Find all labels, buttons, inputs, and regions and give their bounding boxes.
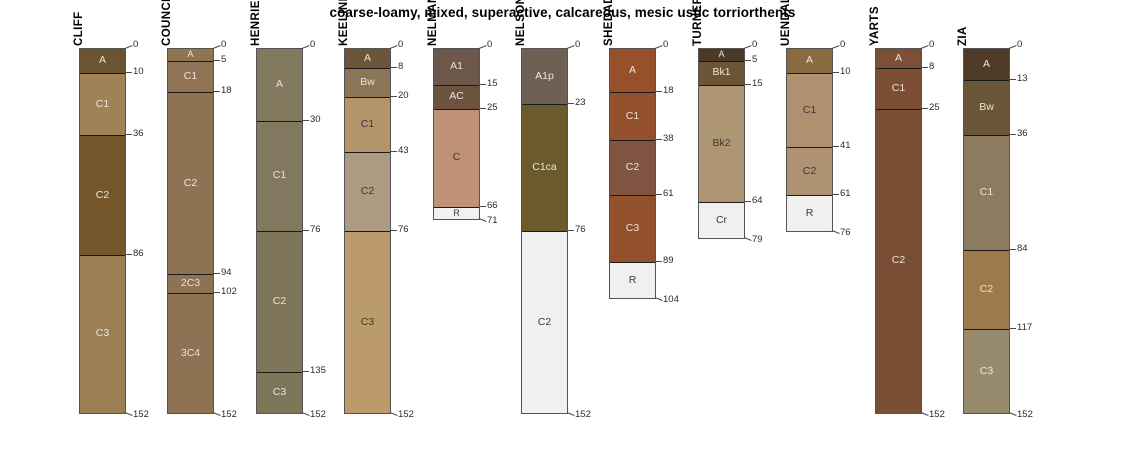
depth-tick: [832, 146, 839, 147]
horizon-boundary: [522, 231, 567, 232]
depth-tick: [125, 45, 133, 49]
profile-column: ABwC1C2C3: [963, 48, 1010, 414]
depth-tick: [213, 60, 220, 61]
horizon-label: C2: [168, 178, 213, 189]
horizon-label: A: [257, 79, 302, 90]
depth-tick: [302, 45, 310, 49]
horizon-boundary: [168, 92, 213, 93]
horizon-label: A: [876, 53, 921, 64]
depth-tick: [1009, 328, 1016, 329]
soil-profile-plot: coarse-loamy, mixed, superactive, calcar…: [0, 0, 1125, 450]
soil-horizon: C3: [257, 372, 302, 413]
soil-horizon: A: [168, 49, 213, 61]
depth-tick: [655, 139, 662, 140]
horizon-boundary: [345, 68, 390, 69]
depth-label: 152: [221, 410, 237, 420]
soil-horizon: C2: [168, 92, 213, 274]
depth-tick: [567, 103, 574, 104]
depth-tick: [390, 151, 397, 152]
horizon-label: C1: [257, 170, 302, 181]
soil-horizon: A1: [434, 49, 479, 85]
horizon-boundary: [610, 92, 655, 93]
horizon-label: C1: [964, 187, 1009, 198]
horizon-label: C3: [964, 366, 1009, 377]
soil-horizon: C3: [964, 329, 1009, 413]
soil-horizon: C2: [522, 231, 567, 413]
depth-label: 25: [929, 103, 940, 113]
depth-label: 36: [133, 129, 144, 139]
depth-label: 0: [310, 40, 315, 50]
horizon-label: R: [610, 275, 655, 286]
soil-horizon: C1: [610, 92, 655, 140]
depth-tick: [1009, 134, 1016, 135]
depth-label: 8: [929, 62, 934, 72]
horizon-label: A: [80, 55, 125, 66]
depth-label: 117: [1017, 323, 1032, 333]
profile-name-label: NELMAN: [427, 0, 439, 46]
horizon-boundary: [876, 109, 921, 110]
soil-horizon: C3: [345, 231, 390, 413]
soil-horizon: R: [434, 207, 479, 219]
soil-horizon: A: [345, 49, 390, 68]
horizon-label: C1: [168, 71, 213, 82]
horizon-label: C2: [345, 186, 390, 197]
horizon-label: C2: [876, 255, 921, 266]
depth-label: 0: [133, 40, 138, 50]
soil-horizon: 3C4: [168, 293, 213, 413]
depth-label: 5: [752, 55, 757, 65]
depth-label: 0: [752, 40, 757, 50]
horizon-boundary: [876, 68, 921, 69]
depth-tick: [655, 194, 662, 195]
horizon-label: C1: [876, 83, 921, 94]
profile-column: AC1C2C3R: [609, 48, 656, 299]
horizon-label: A1: [434, 61, 479, 72]
profile-name-label: COUNCELOR: [161, 0, 173, 46]
horizon-label: A: [610, 65, 655, 76]
horizon-boundary: [168, 61, 213, 62]
horizon-boundary: [787, 147, 832, 148]
horizon-boundary: [257, 231, 302, 232]
depth-label: 89: [663, 256, 674, 266]
depth-tick: [744, 201, 751, 202]
depth-label: 152: [1017, 410, 1033, 420]
depth-tick: [921, 108, 928, 109]
depth-tick: [302, 120, 309, 121]
soil-horizon: C: [434, 109, 479, 207]
horizon-boundary: [610, 262, 655, 263]
soil-horizon: A1p: [522, 49, 567, 104]
depth-label: 94: [221, 268, 232, 278]
depth-label: 84: [1017, 244, 1028, 254]
depth-tick: [832, 72, 839, 73]
depth-label: 152: [929, 410, 945, 420]
depth-label: 30: [310, 115, 321, 125]
depth-label: 36: [1017, 129, 1028, 139]
horizon-boundary: [168, 293, 213, 294]
depth-label: 43: [398, 146, 409, 156]
horizon-label: C1: [787, 105, 832, 116]
soil-horizon: C1: [80, 73, 125, 135]
horizon-label: C3: [345, 317, 390, 328]
horizon-label: C3: [610, 223, 655, 234]
depth-label: 0: [929, 40, 934, 50]
depth-label: 104: [663, 295, 679, 305]
depth-label: 18: [221, 86, 232, 96]
horizon-label: C2: [257, 296, 302, 307]
soil-horizon: Bw: [964, 80, 1009, 135]
horizon-label: A: [787, 55, 832, 66]
soil-horizon: Bk2: [699, 85, 744, 202]
soil-horizon: C1: [876, 68, 921, 109]
soil-horizon: C2: [80, 135, 125, 255]
depth-tick: [390, 67, 397, 68]
depth-label: 0: [840, 40, 845, 50]
depth-tick: [567, 230, 574, 231]
depth-label: 152: [575, 410, 591, 420]
horizon-label: Bk1: [699, 67, 744, 78]
profile-column: AC1C22C33C4: [167, 48, 214, 414]
horizon-label: C1: [345, 119, 390, 130]
depth-tick: [1009, 249, 1016, 250]
horizon-label: C2: [787, 166, 832, 177]
soil-horizon: C1: [345, 97, 390, 152]
soil-horizon: C1: [964, 135, 1009, 250]
depth-label: 8: [398, 62, 403, 72]
depth-tick: [125, 72, 132, 73]
horizon-label: C2: [80, 190, 125, 201]
depth-tick: [125, 254, 132, 255]
horizon-label: A: [168, 50, 213, 59]
horizon-boundary: [345, 152, 390, 153]
depth-label: 15: [752, 79, 763, 89]
horizon-label: C1ca: [522, 162, 567, 173]
horizon-boundary: [345, 97, 390, 98]
soil-horizon: C1: [168, 61, 213, 92]
soil-horizon: 2C3: [168, 274, 213, 293]
depth-label: 66: [487, 201, 498, 211]
depth-tick: [479, 84, 486, 85]
horizon-boundary: [434, 85, 479, 86]
horizon-label: R: [434, 209, 479, 218]
horizon-label: C3: [257, 387, 302, 398]
horizon-boundary: [434, 109, 479, 110]
soil-horizon: A: [964, 49, 1009, 80]
depth-label: 0: [663, 40, 668, 50]
soil-horizon: C3: [80, 255, 125, 413]
depth-tick: [213, 273, 220, 274]
profile-column: AC1C2C3: [79, 48, 126, 414]
depth-label: 61: [663, 189, 674, 199]
horizon-label: C2: [610, 162, 655, 173]
horizon-label: C1: [610, 111, 655, 122]
profile-column: AC1C2C3: [256, 48, 303, 414]
horizon-boundary: [787, 73, 832, 74]
horizon-label: 3C4: [168, 348, 213, 359]
horizon-label: A1p: [522, 71, 567, 82]
horizon-boundary: [257, 121, 302, 122]
depth-label: 0: [487, 40, 492, 50]
horizon-boundary: [80, 73, 125, 74]
depth-tick: [302, 230, 309, 231]
horizon-label: C: [434, 152, 479, 163]
depth-label: 76: [840, 228, 851, 238]
horizon-boundary: [168, 274, 213, 275]
soil-horizon: C2: [876, 109, 921, 413]
depth-label: 152: [398, 410, 414, 420]
horizon-label: C2: [522, 317, 567, 328]
depth-tick: [921, 45, 929, 49]
depth-tick: [390, 96, 397, 97]
soil-horizon: A: [610, 49, 655, 92]
horizon-boundary: [964, 329, 1009, 330]
depth-label: 0: [1017, 40, 1022, 50]
soil-horizon: C1: [787, 73, 832, 147]
profile-column: ABwC1C2C3: [344, 48, 391, 414]
horizon-boundary: [434, 207, 479, 208]
soil-horizon: Bk1: [699, 61, 744, 85]
depth-tick: [479, 45, 487, 49]
soil-horizon: C2: [345, 152, 390, 231]
depth-label: 10: [133, 67, 144, 77]
soil-horizon: C1ca: [522, 104, 567, 231]
horizon-label: 2C3: [168, 278, 213, 289]
soil-horizon: A: [80, 49, 125, 73]
soil-horizon: A: [257, 49, 302, 121]
depth-tick: [390, 45, 398, 49]
depth-tick: [744, 45, 752, 49]
profile-column: A1pC1caC2: [521, 48, 568, 414]
profile-name-label: SHEDADO: [603, 0, 615, 46]
profile-name-label: ZIA: [957, 26, 969, 46]
depth-label: 23: [575, 98, 586, 108]
horizon-label: A: [699, 50, 744, 59]
soil-horizon: Cr: [699, 202, 744, 238]
depth-label: 41: [840, 141, 851, 151]
depth-tick: [744, 84, 751, 85]
horizon-boundary: [964, 135, 1009, 136]
depth-tick: [213, 45, 221, 49]
depth-label: 5: [221, 55, 226, 65]
soil-horizon: A: [787, 49, 832, 73]
depth-label: 76: [398, 225, 409, 235]
depth-tick: [479, 108, 486, 109]
depth-tick: [655, 91, 662, 92]
profile-name-label: UENDAL: [780, 0, 792, 46]
horizon-boundary: [787, 195, 832, 196]
depth-label: 18: [663, 86, 674, 96]
depth-tick: [390, 230, 397, 231]
horizon-label: C1: [80, 99, 125, 110]
horizon-boundary: [345, 231, 390, 232]
profile-name-label: TURNERCREST: [692, 0, 704, 46]
depth-label: 152: [310, 410, 326, 420]
horizon-boundary: [964, 250, 1009, 251]
soil-horizon: R: [787, 195, 832, 231]
horizon-label: Cr: [699, 215, 744, 226]
depth-label: 0: [575, 40, 580, 50]
soil-horizon: C2: [610, 140, 655, 195]
profile-column: A1ACCR: [433, 48, 480, 220]
depth-label: 61: [840, 189, 851, 199]
depth-tick: [1009, 45, 1017, 49]
depth-tick: [302, 371, 309, 372]
profile-name-label: YARTS: [869, 6, 881, 46]
soil-horizon: C3: [610, 195, 655, 262]
horizon-boundary: [522, 104, 567, 105]
depth-label: 135: [310, 366, 326, 376]
depth-label: 152: [133, 410, 149, 420]
depth-label: 71: [487, 216, 498, 226]
horizon-boundary: [610, 140, 655, 141]
horizon-label: C3: [80, 328, 125, 339]
depth-label: 86: [133, 249, 144, 259]
depth-tick: [213, 292, 220, 293]
soil-horizon: R: [610, 262, 655, 298]
depth-tick: [921, 67, 928, 68]
depth-label: 76: [575, 225, 586, 235]
horizon-label: A: [964, 59, 1009, 70]
depth-label: 15: [487, 79, 498, 89]
horizon-label: Bw: [964, 102, 1009, 113]
depth-label: 10: [840, 67, 851, 77]
depth-label: 25: [487, 103, 498, 113]
depth-tick: [832, 45, 840, 49]
horizon-label: A: [345, 53, 390, 64]
depth-tick: [479, 206, 486, 207]
depth-label: 76: [310, 225, 321, 235]
soil-horizon: C2: [964, 250, 1009, 329]
soil-horizon: AC: [434, 85, 479, 109]
horizon-boundary: [699, 85, 744, 86]
horizon-label: C2: [964, 284, 1009, 295]
soil-horizon: A: [699, 49, 744, 61]
profile-name-label: KEELINE: [338, 0, 350, 46]
horizon-label: Bk2: [699, 138, 744, 149]
depth-tick: [213, 91, 220, 92]
horizon-boundary: [964, 80, 1009, 81]
horizon-label: R: [787, 208, 832, 219]
depth-label: 13: [1017, 74, 1028, 84]
depth-tick: [1009, 79, 1016, 80]
depth-label: 0: [398, 40, 403, 50]
soil-horizon: A: [876, 49, 921, 68]
soil-horizon: C2: [787, 147, 832, 195]
horizon-label: AC: [434, 91, 479, 102]
horizon-boundary: [610, 195, 655, 196]
horizon-boundary: [80, 255, 125, 256]
depth-tick: [744, 60, 751, 61]
soil-horizon: C1: [257, 121, 302, 231]
horizon-label: Bw: [345, 77, 390, 88]
profile-name-label: CLIFF: [73, 11, 85, 46]
profile-column: AC1C2: [875, 48, 922, 414]
depth-label: 79: [752, 235, 763, 245]
horizon-boundary: [257, 372, 302, 373]
profile-column: ABk1Bk2Cr: [698, 48, 745, 239]
soil-horizon: Bw: [345, 68, 390, 97]
depth-tick: [655, 261, 662, 262]
horizon-boundary: [699, 202, 744, 203]
depth-tick: [567, 45, 575, 49]
depth-tick: [655, 45, 663, 49]
depth-tick: [832, 194, 839, 195]
profile-name-label: NELSON: [515, 0, 527, 46]
profile-name-label: HENRIEVILLE: [250, 0, 262, 46]
profile-column: AC1C2R: [786, 48, 833, 232]
horizon-boundary: [699, 61, 744, 62]
depth-label: 38: [663, 134, 674, 144]
horizon-boundary: [80, 135, 125, 136]
depth-label: 102: [221, 287, 237, 297]
depth-label: 0: [221, 40, 226, 50]
depth-tick: [125, 134, 132, 135]
depth-label: 64: [752, 196, 763, 206]
depth-label: 20: [398, 91, 409, 101]
soil-horizon: C2: [257, 231, 302, 372]
